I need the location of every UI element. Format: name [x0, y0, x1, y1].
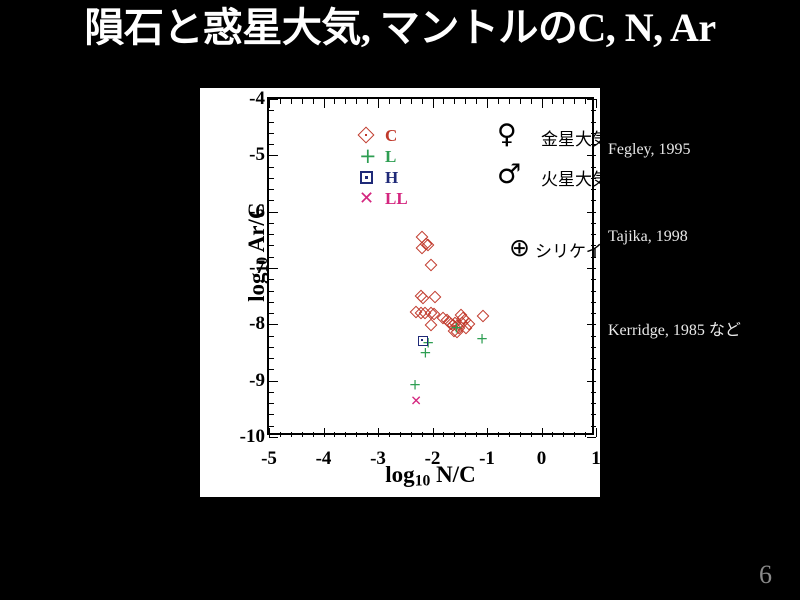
x-tick	[454, 432, 455, 437]
y-tick	[269, 144, 274, 145]
x-tick	[498, 432, 499, 437]
data-point-c	[428, 291, 441, 304]
x-tick-top	[433, 99, 434, 108]
x-tick	[356, 432, 357, 437]
data-point-ll: ✕	[410, 396, 423, 409]
data-point-l: +	[419, 346, 432, 359]
x-tick-top	[596, 99, 597, 108]
y-tick-right	[587, 381, 596, 382]
y-tick-label: -6	[221, 201, 265, 223]
x-tick-top	[378, 99, 379, 108]
x-tick	[280, 432, 281, 437]
data-point-c	[425, 258, 438, 271]
y-tick-right	[591, 234, 596, 235]
y-tick-label: -10	[221, 426, 265, 448]
y-tick	[269, 200, 274, 201]
x-tick-top	[454, 99, 455, 104]
y-tick-right	[587, 155, 596, 156]
y-tick-right	[587, 268, 596, 269]
legend-item-ll[interactable]: ✕LL	[357, 188, 447, 209]
x-tick-top	[411, 99, 412, 104]
y-tick	[269, 302, 274, 303]
citation-0: Fegley, 1995	[608, 141, 691, 159]
legend-item-label: L	[385, 147, 396, 167]
x-tick-top	[356, 99, 357, 104]
x-tick-label: -1	[467, 448, 507, 470]
y-tick	[269, 133, 274, 134]
y-tick-label: -8	[221, 313, 265, 335]
x-tick	[334, 432, 335, 437]
x-tick-top	[422, 99, 423, 104]
y-tick	[269, 403, 274, 404]
annotation-venus-label: 金星大気	[541, 125, 609, 150]
x-tick	[542, 428, 543, 437]
x-tick-top	[563, 99, 564, 104]
earth-symbol-icon: ⊕	[509, 235, 530, 260]
y-tick-right	[587, 324, 596, 325]
legend-item-label: H	[385, 168, 398, 188]
x-tick	[520, 432, 521, 437]
y-tick	[269, 212, 278, 213]
x-tick	[596, 428, 597, 437]
venus-symbol-icon: ♀	[497, 121, 517, 148]
data-point-c	[476, 310, 489, 323]
y-tick	[269, 336, 274, 337]
y-tick	[269, 178, 274, 179]
y-tick-right	[587, 99, 596, 100]
y-tick-right	[591, 347, 596, 348]
legend-item-label: C	[385, 126, 397, 146]
y-tick	[269, 437, 278, 438]
y-tick	[269, 279, 274, 280]
x-tick	[509, 432, 510, 437]
y-tick-label: -4	[221, 88, 265, 110]
x-tick	[563, 432, 564, 437]
x-axis-title-sub: 10	[415, 472, 431, 489]
y-tick	[269, 347, 274, 348]
plus-marker-icon: +	[357, 146, 379, 166]
x-tick	[378, 428, 379, 437]
y-tick-right	[591, 403, 596, 404]
x-tick-top	[367, 99, 368, 104]
data-point-l: +	[450, 321, 463, 334]
page-number: 6	[759, 560, 772, 590]
y-tick-right	[591, 302, 596, 303]
y-tick	[269, 189, 274, 190]
x-tick-top	[269, 99, 270, 108]
x-tick-top	[324, 99, 325, 108]
y-tick	[269, 223, 274, 224]
x-tick-top	[520, 99, 521, 104]
x-tick-top	[465, 99, 466, 104]
x-tick	[345, 432, 346, 437]
x-tick-top	[585, 99, 586, 104]
y-tick-right	[591, 426, 596, 427]
y-tick	[269, 167, 274, 168]
x-tick	[313, 432, 314, 437]
page-title: 隕石と惑星大気, マントルのC, N, Ar	[0, 4, 800, 52]
y-tick	[269, 257, 274, 258]
x-tick	[585, 432, 586, 437]
legend-item-l[interactable]: +L	[357, 146, 447, 167]
y-tick-right	[591, 392, 596, 393]
diamond-marker-icon	[357, 125, 379, 145]
y-tick-right	[591, 414, 596, 415]
legend-item-c[interactable]: C	[357, 125, 447, 146]
cross-marker-icon: ✕	[357, 188, 379, 208]
y-tick-right	[591, 200, 596, 201]
y-tick-right	[591, 313, 596, 314]
x-tick	[531, 432, 532, 437]
y-tick	[269, 122, 274, 123]
x-tick	[400, 432, 401, 437]
y-tick	[269, 99, 278, 100]
x-tick	[487, 428, 488, 437]
y-tick	[269, 426, 274, 427]
y-tick	[269, 381, 278, 382]
y-tick	[269, 313, 274, 314]
y-tick-right	[591, 110, 596, 111]
y-tick-right	[591, 369, 596, 370]
y-tick-right	[591, 291, 596, 292]
x-tick-top	[498, 99, 499, 104]
x-tick	[269, 428, 270, 437]
chart-legend: C+LH✕LL	[357, 125, 447, 209]
x-tick-top	[313, 99, 314, 104]
mars-symbol-icon: ♂	[497, 161, 521, 188]
y-tick-right	[587, 212, 596, 213]
x-tick-label: -4	[304, 448, 344, 470]
x-tick-top	[334, 99, 335, 104]
y-tick	[269, 155, 278, 156]
data-point-l: +	[476, 332, 489, 345]
citation-2: Kerridge, 1985 など	[608, 316, 741, 340]
y-tick	[269, 110, 274, 111]
x-tick-top	[542, 99, 543, 108]
x-tick-top	[509, 99, 510, 104]
y-tick	[269, 268, 278, 269]
y-tick-label: -9	[221, 370, 265, 392]
y-tick-right	[591, 223, 596, 224]
x-tick-label: 0	[522, 448, 562, 470]
y-tick	[269, 358, 274, 359]
y-tick	[269, 414, 274, 415]
y-tick	[269, 392, 274, 393]
x-tick-top	[389, 99, 390, 104]
x-tick	[433, 428, 434, 437]
citation-1: Tajika, 1998	[608, 228, 688, 246]
x-tick	[302, 432, 303, 437]
legend-item-label: LL	[385, 189, 408, 209]
x-tick	[465, 432, 466, 437]
x-tick	[291, 432, 292, 437]
data-point-l: +	[409, 379, 422, 392]
y-tick-right	[591, 336, 596, 337]
y-tick	[269, 369, 274, 370]
x-tick-top	[574, 99, 575, 104]
x-tick-top	[400, 99, 401, 104]
y-tick-right	[591, 358, 596, 359]
y-tick-right	[587, 437, 596, 438]
x-tick	[422, 432, 423, 437]
x-tick-label: -5	[249, 448, 289, 470]
y-tick-right	[591, 122, 596, 123]
x-tick-top	[302, 99, 303, 104]
plot-area: -5-4-3-2-101-4-5-6-7-8-9-10 C+LH✕LL ♀ 金星…	[267, 97, 594, 435]
y-tick	[269, 234, 274, 235]
y-tick	[269, 245, 274, 246]
x-tick-label: -3	[358, 448, 398, 470]
x-tick-top	[531, 99, 532, 104]
x-tick-label: 1	[576, 448, 616, 470]
x-tick	[367, 432, 368, 437]
x-tick	[411, 432, 412, 437]
x-tick	[324, 428, 325, 437]
x-tick-top	[345, 99, 346, 104]
square-marker-icon	[357, 167, 379, 187]
y-tick-label: -5	[221, 144, 265, 166]
x-tick	[389, 432, 390, 437]
x-tick-top	[487, 99, 488, 108]
y-tick-right	[591, 279, 596, 280]
annotation-mars-label: 火星大気	[541, 165, 609, 190]
x-tick-label: -2	[413, 448, 453, 470]
x-tick-top	[280, 99, 281, 104]
figure-panel: log10 Ar/C log10 N/C -5-4-3-2-101-4-5-6-…	[200, 88, 600, 497]
x-tick	[443, 432, 444, 437]
data-point-h	[418, 336, 428, 346]
x-tick-top	[291, 99, 292, 104]
data-point-c	[425, 319, 438, 332]
x-tick	[574, 432, 575, 437]
x-tick-top	[443, 99, 444, 104]
x-tick-top	[552, 99, 553, 104]
x-tick-top	[476, 99, 477, 104]
legend-item-h[interactable]: H	[357, 167, 447, 188]
y-tick-label: -7	[221, 257, 265, 279]
y-tick	[269, 324, 278, 325]
x-tick	[476, 432, 477, 437]
y-tick	[269, 291, 274, 292]
x-tick	[552, 432, 553, 437]
